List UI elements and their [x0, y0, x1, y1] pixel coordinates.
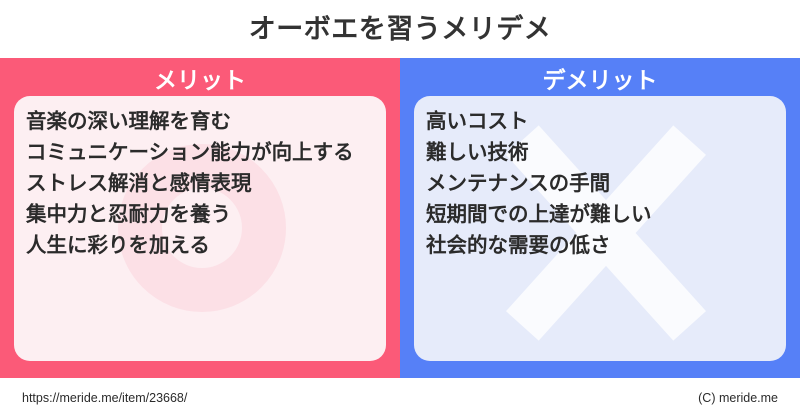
list-item: メンテナンスの手間 — [426, 168, 776, 199]
demerit-heading: デメリット — [543, 65, 658, 96]
title-bar: オーボエを習うメリデメ — [0, 0, 800, 58]
list-item: 音楽の深い理解を育む — [26, 106, 376, 137]
merit-column: メリット 音楽の深い理解を育む コミュニケーション能力が向上する ストレス解消と… — [0, 58, 400, 378]
list-item: コミュニケーション能力が向上する — [26, 137, 376, 168]
list-item: 社会的な需要の低さ — [426, 230, 776, 261]
infographic-page: オーボエを習うメリデメ メリット 音楽の深い理解を育む コミュニケーション能力が… — [0, 0, 800, 418]
merit-card: 音楽の深い理解を育む コミュニケーション能力が向上する ストレス解消と感情表現 … — [14, 96, 386, 361]
copyright-credit: (C) meride.me — [698, 392, 778, 405]
demerit-column: デメリット 高いコスト 難しい技術 メンテナンスの手間 短期間での上達が難しい … — [400, 58, 800, 378]
demerit-list: 高いコスト 難しい技術 メンテナンスの手間 短期間での上達が難しい 社会的な需要… — [414, 96, 786, 261]
footer: https://meride.me/item/23668/ (C) meride… — [0, 378, 800, 418]
comparison-columns: メリット 音楽の深い理解を育む コミュニケーション能力が向上する ストレス解消と… — [0, 58, 800, 378]
list-item: 短期間での上達が難しい — [426, 199, 776, 230]
merit-list: 音楽の深い理解を育む コミュニケーション能力が向上する ストレス解消と感情表現 … — [14, 96, 386, 261]
list-item: 人生に彩りを加える — [26, 230, 376, 261]
page-title: オーボエを習うメリデメ — [249, 16, 552, 43]
list-item: 難しい技術 — [426, 137, 776, 168]
list-item: ストレス解消と感情表現 — [26, 168, 376, 199]
merit-heading: メリット — [154, 65, 246, 96]
demerit-card: 高いコスト 難しい技術 メンテナンスの手間 短期間での上達が難しい 社会的な需要… — [414, 96, 786, 361]
list-item: 集中力と忍耐力を養う — [26, 199, 376, 230]
source-url[interactable]: https://meride.me/item/23668/ — [22, 392, 187, 405]
list-item: 高いコスト — [426, 106, 776, 137]
